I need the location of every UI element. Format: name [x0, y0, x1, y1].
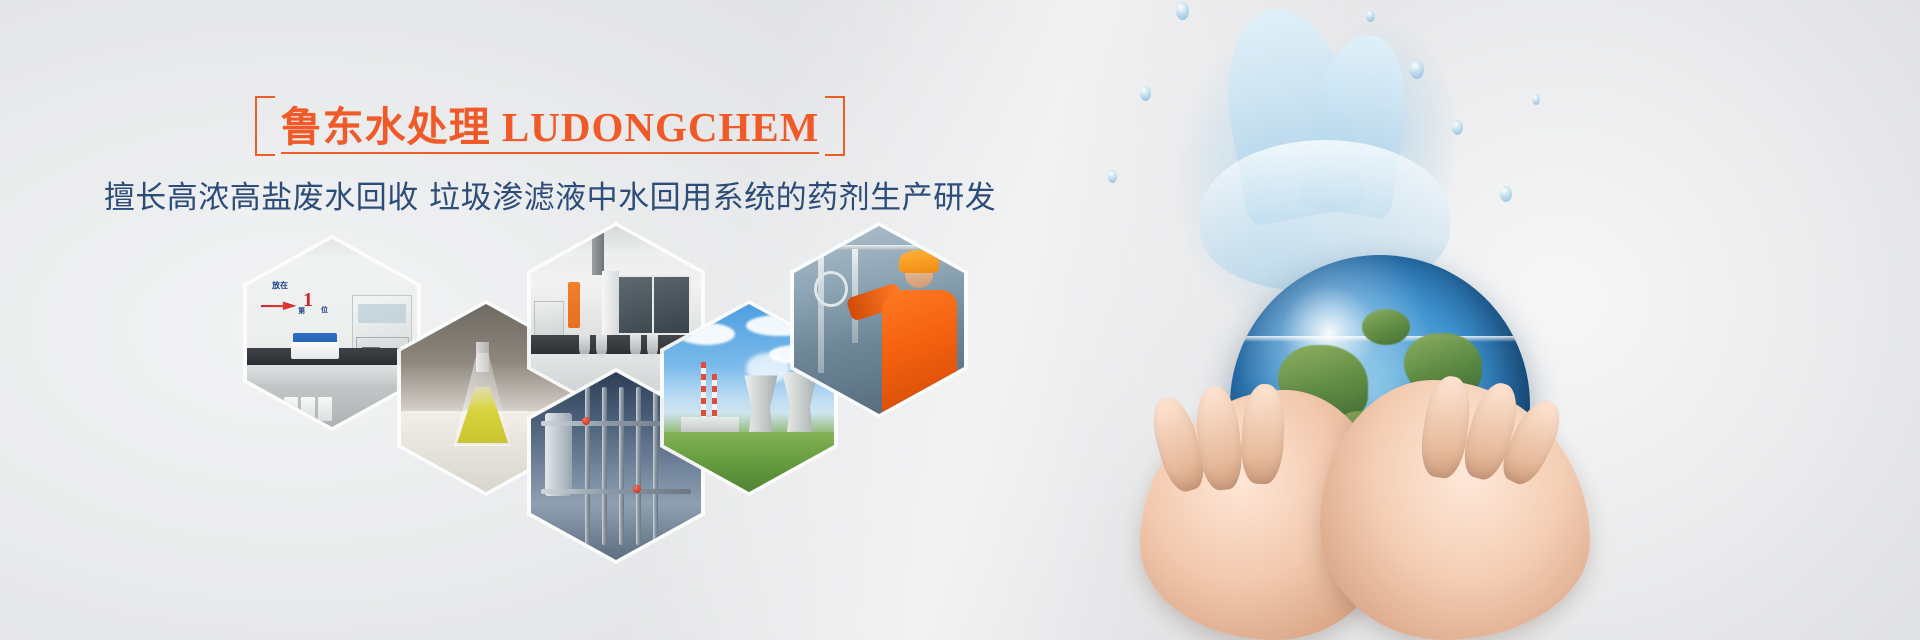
- jug: [318, 397, 332, 421]
- water-droplet: [1532, 94, 1540, 105]
- hexagon-lab-room: 放在 第 1 位: [243, 235, 421, 431]
- water-droplet: [1108, 170, 1117, 183]
- pipe-horizontal: [804, 245, 954, 251]
- water-droplet: [1176, 2, 1189, 20]
- glassware: [647, 335, 659, 358]
- glassware: [630, 335, 642, 358]
- jug: [301, 397, 315, 421]
- floor: [247, 384, 417, 427]
- valve-wheel: [814, 271, 847, 307]
- water-droplet: [1410, 60, 1424, 79]
- pipe-vertical: [602, 387, 607, 545]
- hand-right: [1320, 380, 1590, 640]
- slogan-arrow-icon: [261, 298, 297, 311]
- water-globe-artwork: [1020, 0, 1920, 640]
- water-droplet: [1452, 120, 1463, 135]
- pipe-horizontal: [541, 489, 691, 494]
- white-apparatus: [291, 342, 339, 359]
- window: [615, 275, 690, 335]
- pipe-vertical: [653, 387, 658, 545]
- jug: [284, 397, 298, 421]
- finger: [1239, 383, 1286, 485]
- hexagon-lab-room-photo: 放在 第 1 位: [247, 239, 417, 427]
- pipe-vertical: [585, 387, 590, 545]
- glassware: [579, 335, 591, 358]
- ceiling: [531, 226, 701, 256]
- bench-front: [247, 365, 417, 384]
- water-droplet: [1500, 186, 1512, 202]
- water-droplet: [1366, 10, 1375, 22]
- landmass: [1362, 309, 1410, 345]
- glassware: [596, 335, 608, 358]
- flask-neck: [476, 342, 490, 372]
- hexagon-gallery: 放在 第 1 位: [0, 0, 1060, 640]
- hero-banner: 鲁东水处理 LUDONGCHEM 擅长高浓高盐废水回收 垃圾渗滤液中水回用系统的…: [0, 0, 1920, 640]
- worker-body: [882, 290, 957, 414]
- orange-apparatus: [568, 282, 580, 327]
- pipe-vertical: [619, 387, 624, 545]
- water-droplet: [1140, 86, 1151, 101]
- slogan-after-text: 位: [321, 305, 328, 315]
- valve-handle: [633, 485, 641, 493]
- pipe-vertical: [818, 249, 824, 373]
- pipe-vertical: [636, 387, 641, 545]
- slogan-number: 1: [303, 290, 313, 310]
- slogan-top-text: 放在: [272, 280, 288, 291]
- ceiling-beam: [592, 226, 604, 275]
- wall-slogan: 放在 第 1 位: [261, 280, 343, 329]
- hard-hat-icon: [899, 250, 938, 273]
- cooling-tower: [742, 375, 779, 431]
